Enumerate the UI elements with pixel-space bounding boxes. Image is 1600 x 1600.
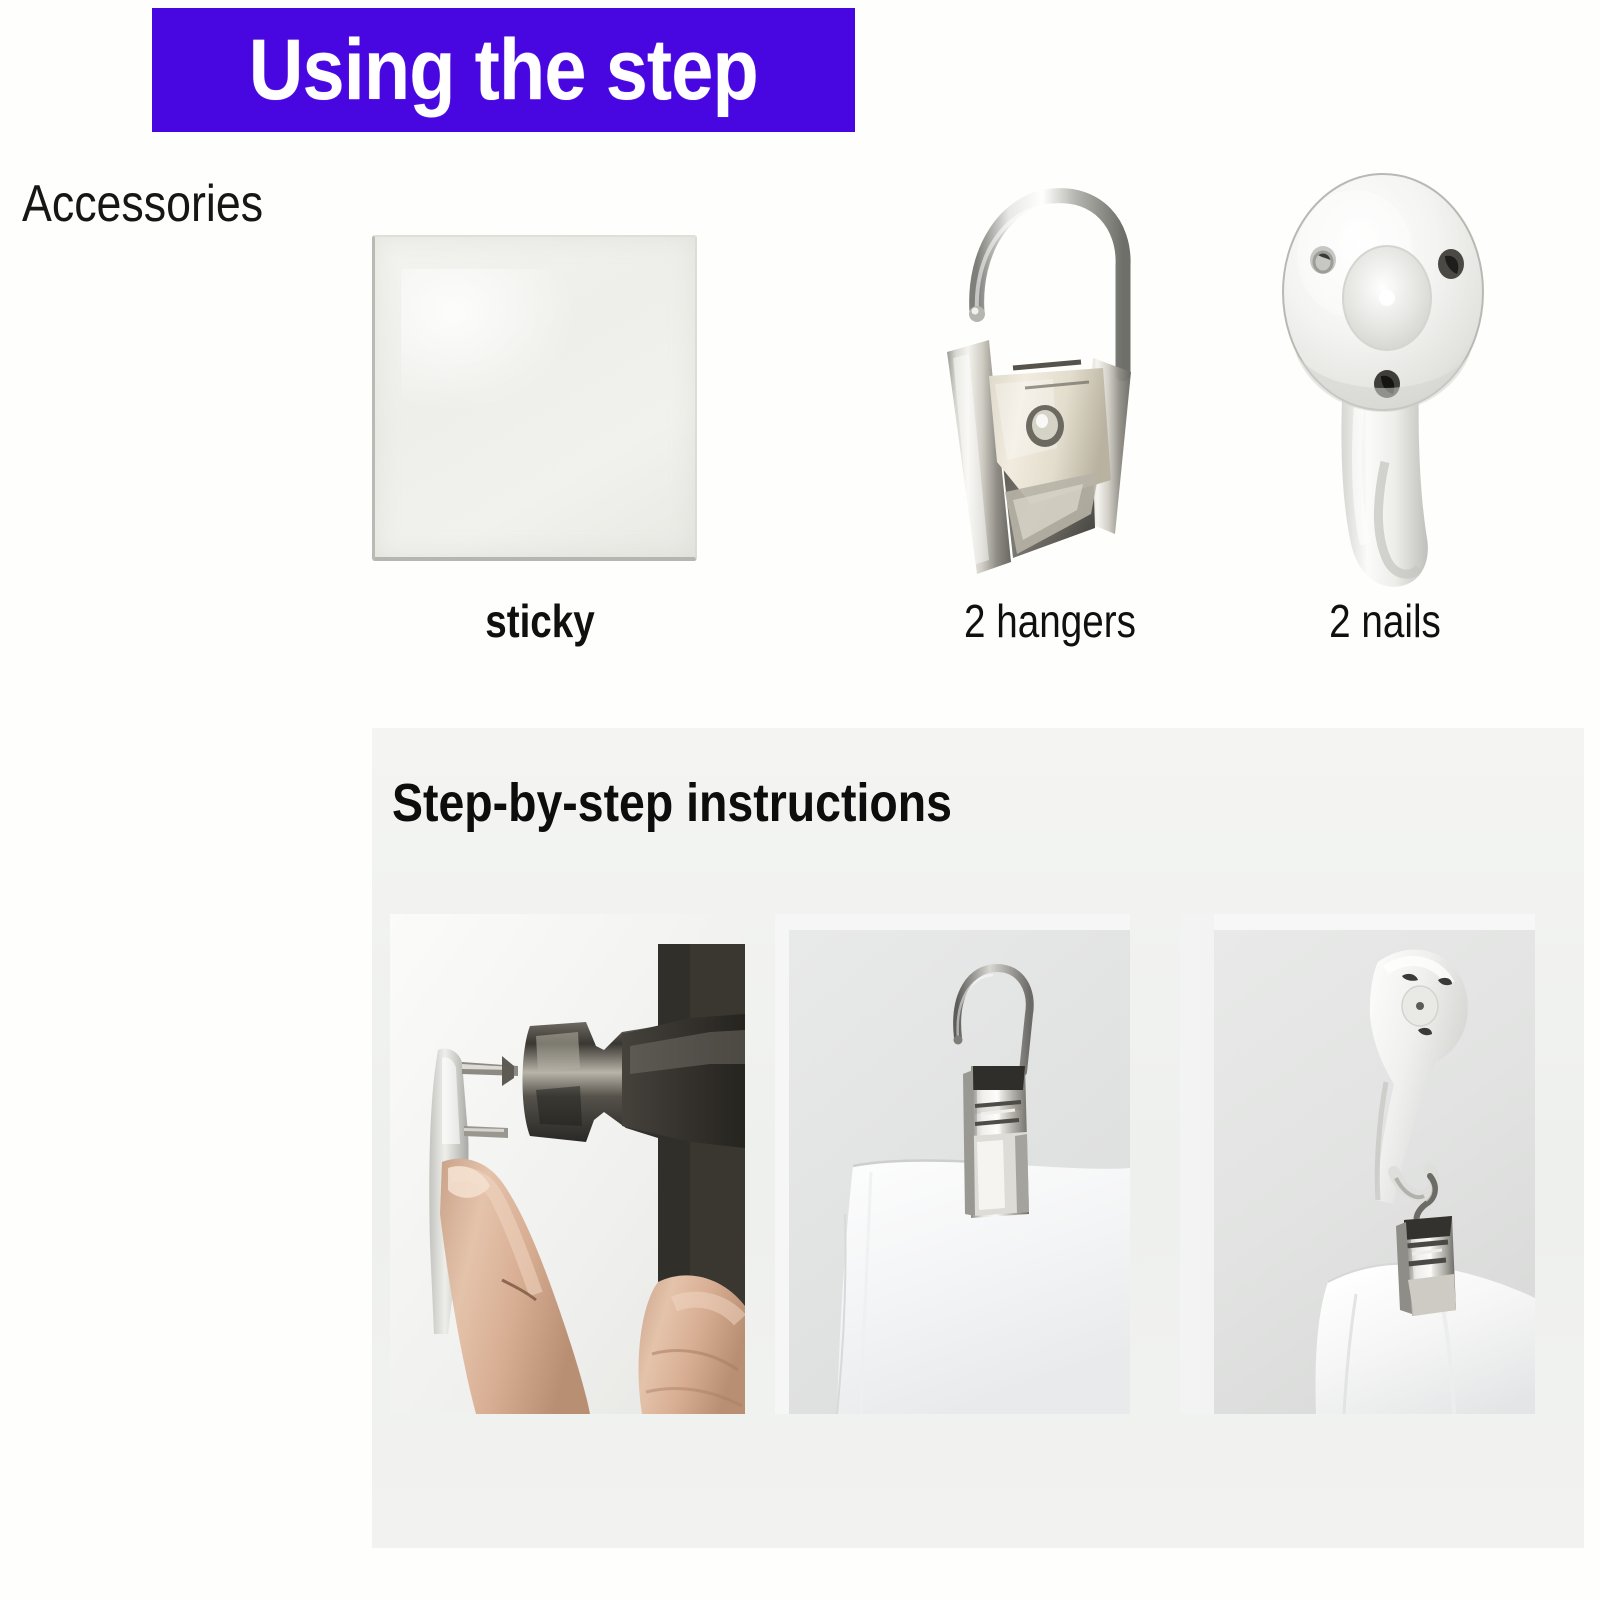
step-photo-1 <box>390 914 745 1414</box>
accessory-item-hangers: 2 hangers <box>885 150 1215 650</box>
hanger-clip-icon <box>885 162 1215 602</box>
page-title: Using the step <box>249 27 758 113</box>
sticky-pad-icon <box>372 235 697 561</box>
accessories-row: sticky <box>330 150 1530 670</box>
nail-hook-icon <box>1235 162 1535 602</box>
hook-with-clip-and-cloth-photo <box>1180 914 1535 1414</box>
step-by-step-panel: Step-by-step instructions <box>372 728 1584 1548</box>
accessories-section-label: Accessories <box>22 174 263 234</box>
instructions-heading: Step-by-step instructions <box>392 776 952 830</box>
step-photo-3 <box>1180 914 1535 1414</box>
accessory-caption: 2 nails <box>1259 598 1511 644</box>
accessory-caption: 2 hangers <box>911 598 1188 644</box>
hammer-nailing-hook-photo <box>390 914 745 1414</box>
step-photo-2 <box>775 914 1130 1414</box>
title-banner: Using the step <box>152 8 855 132</box>
infographic-page: Using the step Accessories sticky <box>0 0 1600 1600</box>
clip-holding-sheet-photo <box>775 914 1130 1414</box>
accessory-caption: sticky <box>364 598 717 644</box>
step-photo-grid: Step1 Step2 Step3 <box>390 914 1566 1414</box>
accessory-item-sticky: sticky <box>330 150 750 650</box>
accessory-item-nails: 2 nails <box>1235 150 1535 650</box>
